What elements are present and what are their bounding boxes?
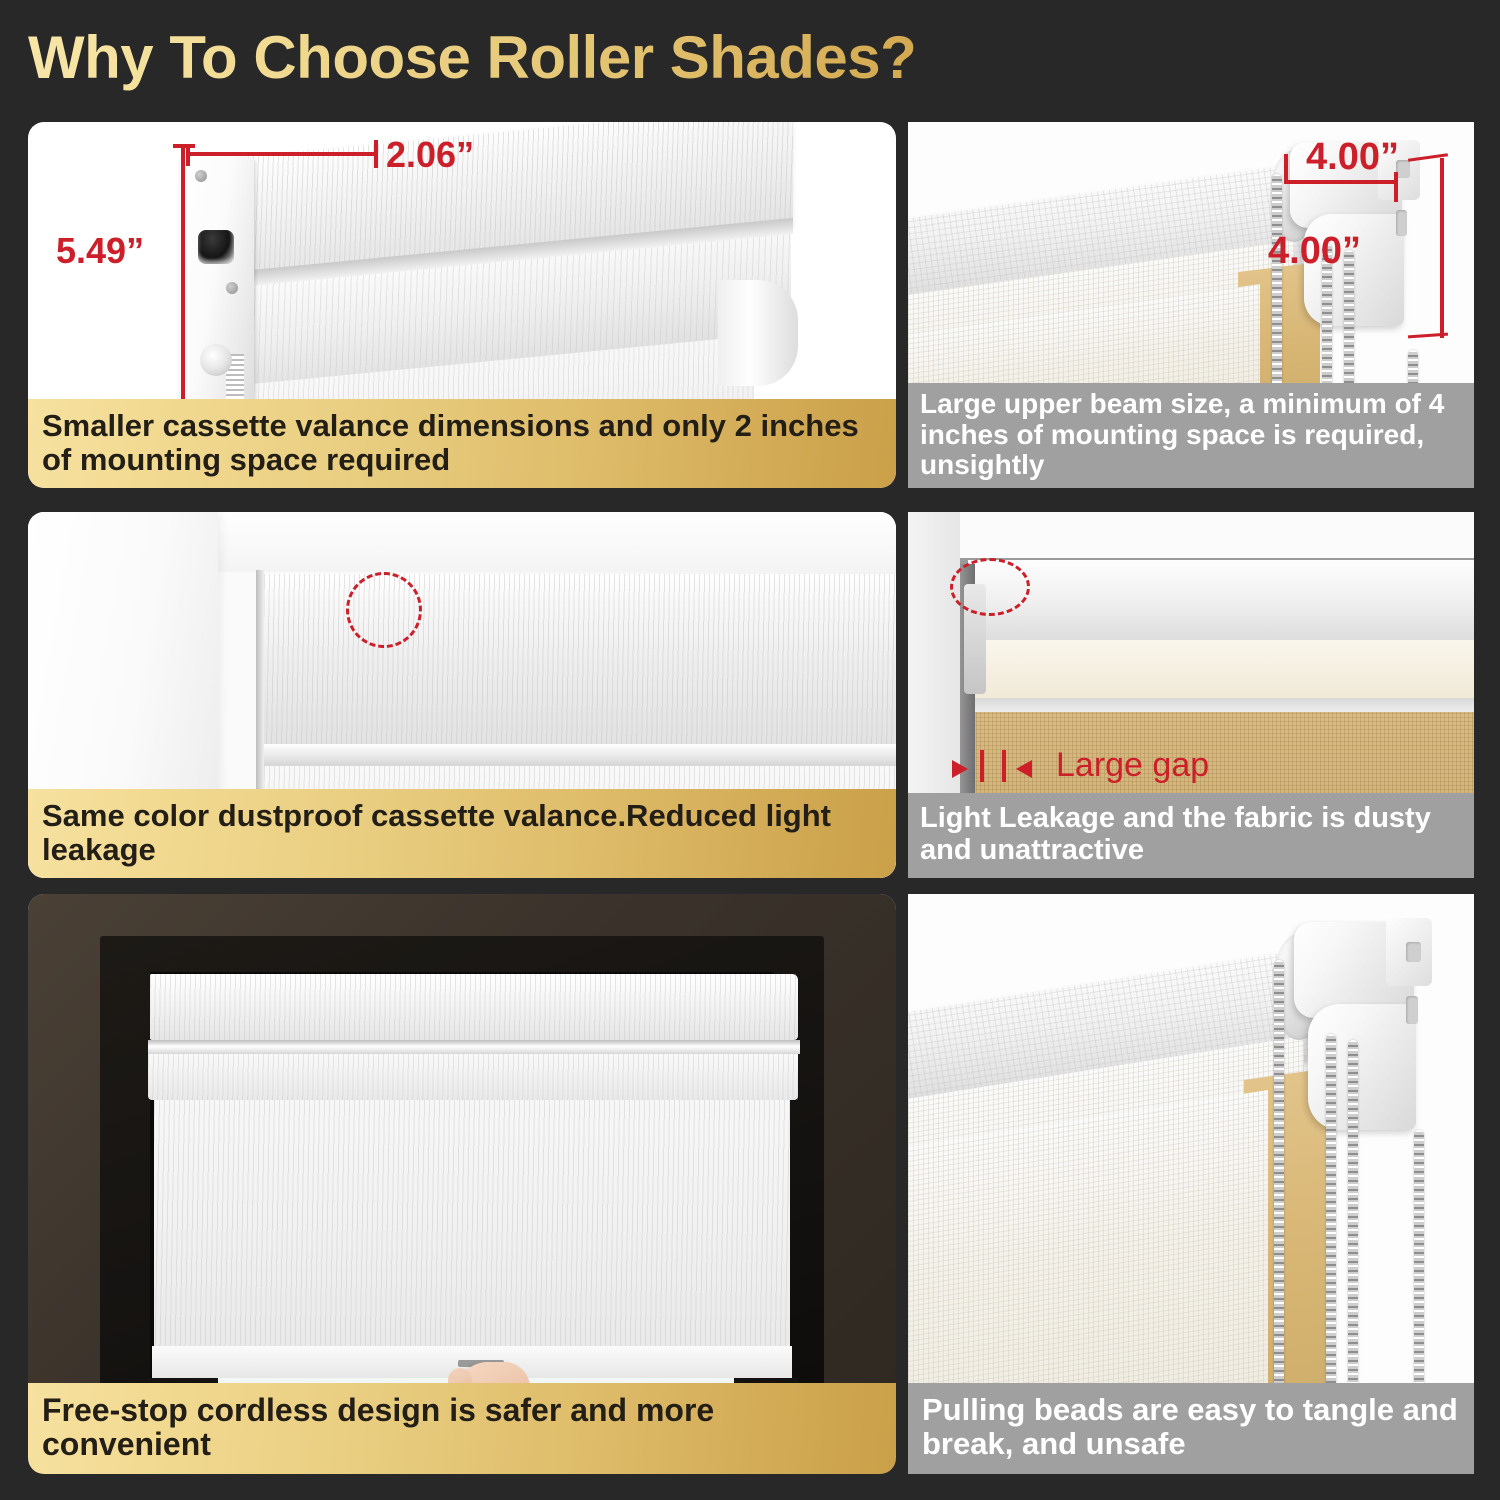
beam-width-label: 4.00” [1306, 136, 1399, 179]
panel-6-caption: Pulling beads are easy to tangle and bre… [908, 1383, 1474, 1474]
gap-arrow-right [1016, 760, 1032, 778]
gap-marker-bar-2 [1002, 750, 1006, 782]
bracket-slot-mid [1396, 210, 1407, 236]
highlight-circle-gap [346, 572, 422, 648]
panel-light-leakage: Large gap Light Leakage and the fabric i… [908, 512, 1474, 878]
panel-3-caption: Same color dustproof cassette valance.Re… [28, 789, 896, 878]
highlight-circle-gap [950, 558, 1030, 616]
dim-width-line [188, 152, 378, 156]
bead-chain-4 [1414, 1130, 1424, 1412]
panel-smaller-cassette: 2.06” 5.49” Smaller cassette valance dim… [28, 122, 896, 488]
beam-height-label: 4.00” [1268, 230, 1361, 273]
dim-width-label: 2.06” [386, 134, 474, 176]
bead-chain-2 [1326, 1034, 1336, 1412]
dim-height-tick-top [173, 144, 195, 148]
beam-width-tick-left [1284, 154, 1288, 184]
cassette-headrail [150, 974, 798, 1040]
mounting-bracket-lower [1308, 1004, 1416, 1130]
page-title: Why To Choose Roller Shades? [28, 18, 1128, 98]
gap-arrow-left [952, 760, 968, 778]
bead-chain-3 [1348, 1040, 1358, 1412]
bead-chain-1 [1274, 960, 1284, 1410]
panel-2-caption: Large upper beam size, a minimum of 4 in… [908, 383, 1474, 488]
panel-dustproof-cassette: smaller gap Same color dustproof cassett… [28, 512, 896, 878]
roller-shade-fabric [154, 1100, 790, 1354]
beam-width-line [1286, 180, 1398, 184]
dim-width-tick-left [186, 146, 190, 166]
panel-1-caption: Smaller cassette valance dimensions and … [28, 399, 896, 488]
bracket-slot-top [1406, 942, 1421, 962]
gap-marker-bar-1 [980, 750, 984, 782]
dim-height-label: 5.49” [56, 230, 144, 272]
panel-4-caption: Light Leakage and the fabric is dusty an… [908, 793, 1474, 878]
dim-width-tick-right [374, 140, 378, 168]
panel-large-upper-beam: 4.00” 4.00” Large upper beam size, a min… [908, 122, 1474, 488]
panel-free-stop-cordless: Free-stop cordless design is safer and m… [28, 894, 896, 1474]
beam-height-line [1440, 158, 1444, 338]
bracket-slot-mid [1406, 996, 1418, 1024]
panel-5-caption: Free-stop cordless design is safer and m… [28, 1383, 896, 1474]
panel-pulling-beads: Pulling beads are easy to tangle and bre… [908, 894, 1474, 1474]
large-gap-label: Large gap [1056, 746, 1209, 785]
